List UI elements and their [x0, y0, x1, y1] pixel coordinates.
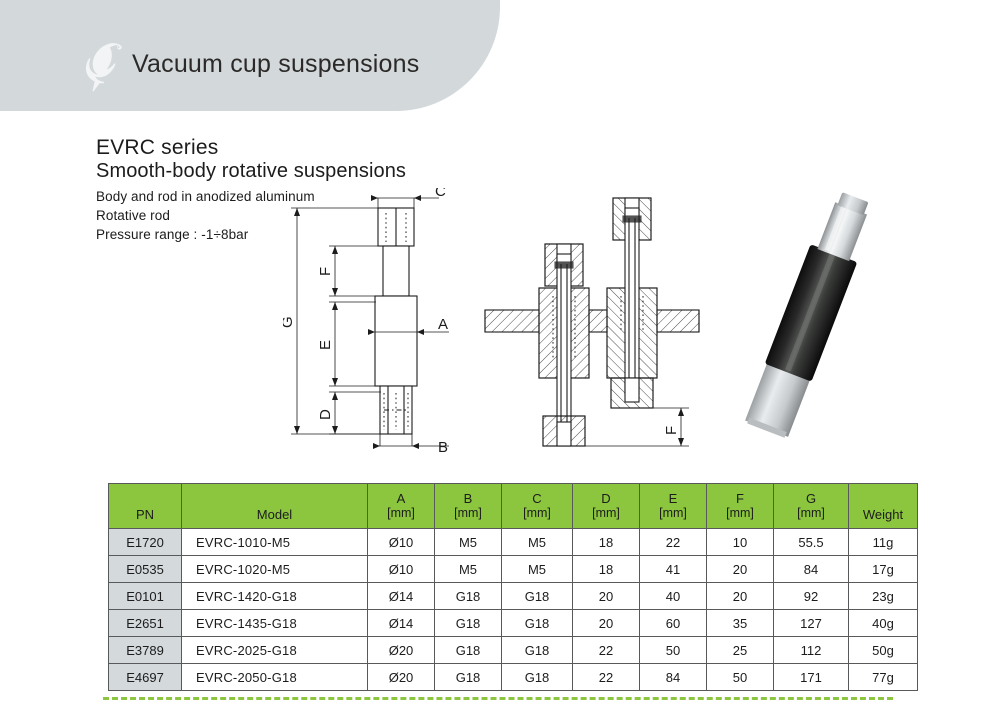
dim-label-b: B [438, 439, 448, 456]
dim-label-a: A [438, 316, 448, 333]
cell-a: Ø20 [368, 664, 435, 691]
cell-model: EVRC-1420-G18 [182, 583, 368, 610]
section-dim-label-f: F [663, 426, 680, 435]
cell-weight: 11g [849, 529, 918, 556]
cell-weight: 17g [849, 556, 918, 583]
cell-a: Ø20 [368, 637, 435, 664]
column-header-b: B [mm] [435, 484, 502, 529]
cell-e: 22 [640, 529, 707, 556]
cell-b: G18 [435, 583, 502, 610]
dim-label-d: D [317, 409, 334, 420]
cell-c: G18 [502, 583, 573, 610]
cell-f: 35 [707, 610, 774, 637]
column-header-e: E [mm] [640, 484, 707, 529]
cell-b: M5 [435, 529, 502, 556]
cell-f: 50 [707, 664, 774, 691]
cell-d: 22 [573, 637, 640, 664]
cell-g: 55.5 [774, 529, 849, 556]
dim-label-f: F [317, 267, 334, 276]
cell-pn: E4697 [109, 664, 182, 691]
cell-c: G18 [502, 637, 573, 664]
cell-g: 92 [774, 583, 849, 610]
cell-model: EVRC-1010-M5 [182, 529, 368, 556]
cell-c: G18 [502, 664, 573, 691]
cell-a: Ø14 [368, 610, 435, 637]
cell-f: 20 [707, 556, 774, 583]
cell-pn: E0101 [109, 583, 182, 610]
dim-label-g: G [283, 316, 296, 328]
spec-line-rod: Rotative rod [96, 206, 315, 225]
cell-e: 60 [640, 610, 707, 637]
cross-section-drawing: F [483, 192, 703, 465]
table-row[interactable]: E0101 EVRC-1420-G18 Ø14 G18 G18 20 40 20… [109, 583, 918, 610]
cell-d: 18 [573, 529, 640, 556]
cell-weight: 77g [849, 664, 918, 691]
dimension-drawing: C G F E D A B [283, 188, 473, 465]
cell-g: 112 [774, 637, 849, 664]
table-body: E1720 EVRC-1010-M5 Ø10 M5 M5 18 22 10 55… [109, 529, 918, 691]
cell-pn: E2651 [109, 610, 182, 637]
table-row[interactable]: E3789 EVRC-2025-G18 Ø20 G18 G18 22 50 25… [109, 637, 918, 664]
cell-a: Ø14 [368, 583, 435, 610]
spec-list: Body and rod in anodized aluminum Rotati… [96, 187, 315, 244]
column-header-pn: PN [109, 484, 182, 529]
column-header-a: A [mm] [368, 484, 435, 529]
cell-a: Ø10 [368, 529, 435, 556]
cell-pn: E0535 [109, 556, 182, 583]
header-banner: Vacuum cup suspensions [0, 0, 500, 111]
series-subtitle: Smooth-body rotative suspensions [96, 160, 406, 183]
dim-label-c: C [435, 188, 446, 200]
cell-b: M5 [435, 556, 502, 583]
cell-g: 127 [774, 610, 849, 637]
footer-divider [103, 697, 893, 700]
cell-c: G18 [502, 610, 573, 637]
cell-f: 25 [707, 637, 774, 664]
cell-weight: 23g [849, 583, 918, 610]
page-title: Vacuum cup suspensions [132, 50, 419, 79]
cell-model: EVRC-2025-G18 [182, 637, 368, 664]
table-row[interactable]: E4697 EVRC-2050-G18 Ø20 G18 G18 22 84 50… [109, 664, 918, 691]
column-header-g: G [mm] [774, 484, 849, 529]
column-header-f: F [mm] [707, 484, 774, 529]
cell-e: 40 [640, 583, 707, 610]
cell-a: Ø10 [368, 556, 435, 583]
column-header-c: C [mm] [502, 484, 573, 529]
cell-e: 41 [640, 556, 707, 583]
cell-model: EVRC-1020-M5 [182, 556, 368, 583]
cell-d: 20 [573, 583, 640, 610]
table-row[interactable]: E0535 EVRC-1020-M5 Ø10 M5 M5 18 41 20 84… [109, 556, 918, 583]
spec-line-pressure: Pressure range : -1÷8bar [96, 225, 315, 244]
column-header-model: Model [182, 484, 368, 529]
table-header-row: PN Model A [mm] B [mm] C [mm] D [mm] [109, 484, 918, 529]
cell-f: 20 [707, 583, 774, 610]
spec-line-material: Body and rod in anodized aluminum [96, 187, 315, 206]
cell-d: 20 [573, 610, 640, 637]
dim-label-e: E [317, 340, 334, 350]
cell-pn: E1720 [109, 529, 182, 556]
cell-pn: E3789 [109, 637, 182, 664]
cell-d: 22 [573, 664, 640, 691]
cell-model: EVRC-1435-G18 [182, 610, 368, 637]
cell-f: 10 [707, 529, 774, 556]
cell-b: G18 [435, 637, 502, 664]
product-photo [726, 186, 886, 466]
cell-weight: 40g [849, 610, 918, 637]
cell-model: EVRC-2050-G18 [182, 664, 368, 691]
column-header-d: D [mm] [573, 484, 640, 529]
series-title: EVRC series [96, 136, 218, 160]
cell-g: 171 [774, 664, 849, 691]
specification-table: PN Model A [mm] B [mm] C [mm] D [mm] [108, 483, 918, 691]
cell-d: 18 [573, 556, 640, 583]
cell-weight: 50g [849, 637, 918, 664]
cell-b: G18 [435, 664, 502, 691]
cell-c: M5 [502, 556, 573, 583]
dolphin-logo-icon [74, 38, 126, 92]
cell-c: M5 [502, 529, 573, 556]
cell-e: 50 [640, 637, 707, 664]
table-row[interactable]: E1720 EVRC-1010-M5 Ø10 M5 M5 18 22 10 55… [109, 529, 918, 556]
table-row[interactable]: E2651 EVRC-1435-G18 Ø14 G18 G18 20 60 35… [109, 610, 918, 637]
column-header-weight: Weight [849, 484, 918, 529]
cell-e: 84 [640, 664, 707, 691]
cell-b: G18 [435, 610, 502, 637]
cell-g: 84 [774, 556, 849, 583]
